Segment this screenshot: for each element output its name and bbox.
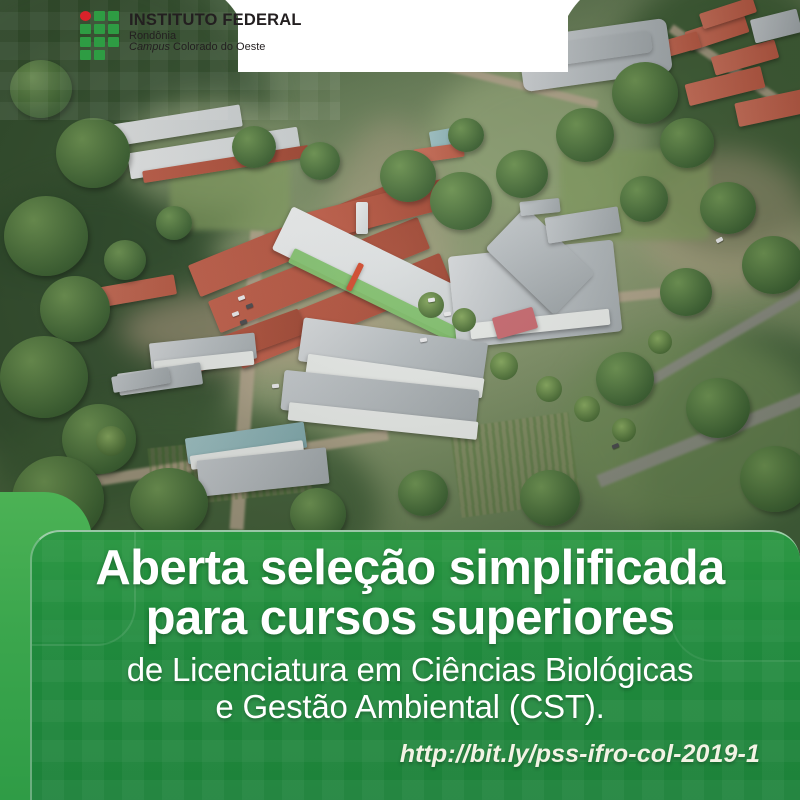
- headline-line-2: para cursos superiores: [54, 594, 766, 644]
- tree: [0, 336, 88, 418]
- logo-cell: [80, 37, 91, 47]
- palm-tree: [418, 292, 444, 318]
- tree: [300, 142, 340, 180]
- logo-cell-empty: [108, 50, 119, 60]
- palm-tree: [574, 396, 600, 422]
- tree: [430, 172, 492, 230]
- palm-tree: [612, 418, 636, 442]
- institutional-brand: INSTITUTO FEDERAL Rondônia Campus Colora…: [80, 11, 302, 55]
- tree: [380, 150, 436, 202]
- tree: [232, 126, 276, 168]
- tree: [10, 60, 72, 118]
- tree: [40, 276, 110, 342]
- tree: [686, 378, 750, 438]
- banner-body: Aberta seleção simplificada para cursos …: [30, 530, 800, 800]
- tree: [596, 352, 654, 406]
- parked-car: [272, 384, 279, 389]
- logo-cell: [94, 50, 105, 60]
- tree: [4, 196, 88, 276]
- institution-name: INSTITUTO FEDERAL: [129, 12, 302, 29]
- tree: [520, 470, 580, 526]
- logo-cell: [80, 50, 91, 60]
- water-tower: [356, 202, 368, 234]
- subheadline: de Licenciatura em Ciências Biológicas e…: [54, 652, 766, 726]
- tree: [620, 176, 668, 222]
- campus-prefix: Campus: [129, 41, 170, 53]
- subheadline-line-1: de Licenciatura em Ciências Biológicas: [127, 651, 694, 688]
- headline: Aberta seleção simplificada para cursos …: [54, 544, 766, 644]
- campus-name: Colorado do Oeste: [173, 41, 265, 53]
- tree: [448, 118, 484, 152]
- tree: [104, 240, 146, 280]
- logo-cell: [94, 24, 105, 34]
- campus-line: Campus Colorado do Oeste: [129, 42, 302, 54]
- palm-tree: [452, 308, 476, 332]
- tree: [660, 268, 712, 316]
- headline-line-1: Aberta seleção simplificada: [95, 541, 724, 595]
- tree: [660, 118, 714, 168]
- palm-tree: [490, 352, 518, 380]
- logo-cell: [94, 11, 105, 21]
- logo-cell: [108, 37, 119, 47]
- tree: [556, 108, 614, 162]
- ifro-logo-icon: [80, 11, 120, 55]
- tree: [56, 118, 130, 188]
- tree: [700, 182, 756, 234]
- logo-cell: [108, 11, 119, 21]
- tree: [742, 236, 800, 294]
- palm-tree: [536, 376, 562, 402]
- tree: [740, 446, 800, 512]
- banner-content: Aberta seleção simplificada para cursos …: [32, 532, 800, 769]
- logo-cell: [94, 37, 105, 47]
- tree: [496, 150, 548, 198]
- palm-tree: [96, 426, 126, 456]
- logo-cell: [80, 24, 91, 34]
- announcement-banner: Aberta seleção simplificada para cursos …: [0, 530, 800, 800]
- poster-root: INSTITUTO FEDERAL Rondônia Campus Colora…: [0, 0, 800, 800]
- brand-text-block: INSTITUTO FEDERAL Rondônia Campus Colora…: [129, 12, 302, 54]
- logo-cell-red-dot: [80, 11, 91, 21]
- subheadline-line-2: e Gestão Ambiental (CST).: [54, 689, 766, 726]
- tree: [612, 62, 678, 124]
- short-url-link[interactable]: http://bit.ly/pss-ifro-col-2019-1: [54, 740, 766, 769]
- aerial-campus-photo: [0, 0, 800, 560]
- tree: [398, 470, 448, 516]
- tree: [130, 468, 208, 538]
- palm-tree: [648, 330, 672, 354]
- tree: [156, 206, 192, 240]
- logo-cell: [108, 24, 119, 34]
